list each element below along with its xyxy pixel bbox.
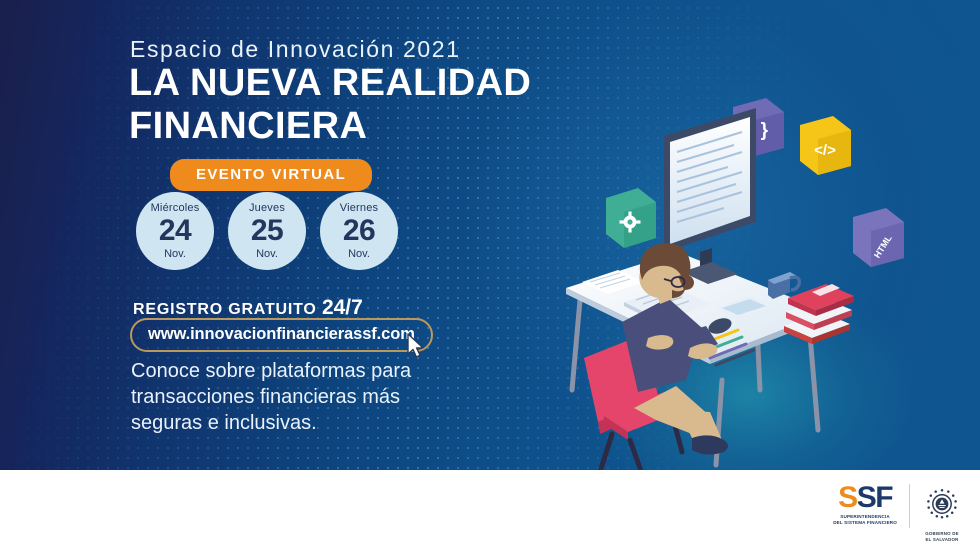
ssf-letter-s: S <box>838 481 857 514</box>
date-number: 26 <box>343 216 375 246</box>
event-kicker: Espacio de Innovación 2021 <box>130 36 461 63</box>
cursor-arrow-icon <box>406 333 428 359</box>
date-month: Nov. <box>164 249 186 260</box>
footer-bar: SSF SUPERINTENDENCIA DEL SISTEMA FINANCI… <box>0 470 980 551</box>
gear-card-icon <box>606 188 656 248</box>
workspace-illustration: { } </> HTML <box>560 90 980 470</box>
promotional-banner: { } </> HTML <box>0 0 980 551</box>
registration-url-link[interactable]: www.innovacionfinancierassf.com <box>130 318 433 352</box>
book-stack <box>784 284 854 344</box>
date-month: Nov. <box>256 249 278 260</box>
date-number: 25 <box>251 216 283 246</box>
national-seal-icon <box>922 484 962 524</box>
date-weekday: Viernes <box>340 203 379 214</box>
logo-group: SSF SUPERINTENDENCIA DEL SISTEMA FINANCI… <box>833 483 962 542</box>
date-number: 24 <box>159 216 191 246</box>
ssf-letters-sf: SF <box>857 481 892 514</box>
ssf-logo: SSF SUPERINTENDENCIA DEL SISTEMA FINANCI… <box>833 483 897 526</box>
gobierno-subtitle: GOBIERNO DE EL SALVADOR <box>922 531 962 542</box>
ssf-wordmark: SSF <box>833 483 897 513</box>
date-weekday: Jueves <box>249 203 285 214</box>
date-month: Nov. <box>348 249 370 260</box>
page-title: LA NUEVA REALIDAD FINANCIERA <box>129 62 531 148</box>
date-weekday: Miércoles <box>151 203 200 214</box>
registration-label: REGISTRO GRATUITO 24/7 <box>133 296 363 320</box>
gobierno-logo: GOBIERNO DE EL SALVADOR <box>922 483 962 542</box>
svg-text:</>: </> <box>814 142 836 159</box>
event-description: Conoce sobre plataformas para transaccio… <box>131 358 411 436</box>
date-circle: Viernes 26 Nov. <box>320 192 398 270</box>
logo-divider <box>909 484 910 528</box>
hero-panel: { } </> HTML <box>0 0 980 470</box>
date-circle: Miércoles 24 Nov. <box>136 192 214 270</box>
date-circle: Jueves 25 Nov. <box>228 192 306 270</box>
status-badge: EVENTO VIRTUAL <box>170 159 372 191</box>
registration-text: REGISTRO GRATUITO <box>133 301 317 318</box>
registration-hours: 24/7 <box>322 296 363 319</box>
html-card-icon: HTML <box>853 208 904 267</box>
code-card-icon: </> <box>800 116 851 175</box>
ssf-subtitle: SUPERINTENDENCIA DEL SISTEMA FINANCIERO <box>833 514 897 526</box>
event-dates: Miércoles 24 Nov. Jueves 25 Nov. Viernes… <box>136 192 398 270</box>
